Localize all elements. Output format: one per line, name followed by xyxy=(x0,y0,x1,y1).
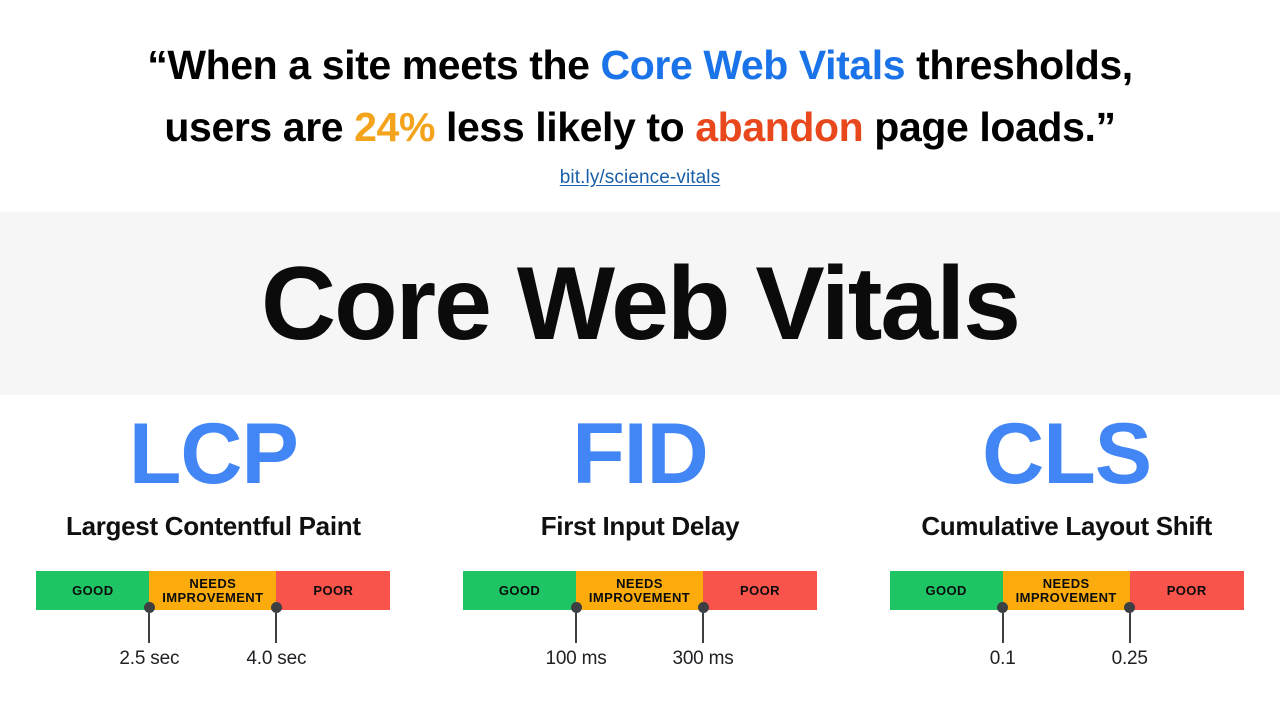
metric-card-cls: CLS Cumulative Layout Shift GOOD NEEDS I… xyxy=(853,395,1280,720)
metric-card-fid: FID First Input Delay GOOD NEEDS IMPROVE… xyxy=(427,395,854,720)
metric-abbr-cls: CLS xyxy=(982,411,1151,497)
quote-line2-part3: page loads.” xyxy=(863,104,1115,150)
marker-stem xyxy=(702,613,704,643)
threshold-label-cls-1: 0.1 xyxy=(990,648,1016,670)
marker-dot-icon xyxy=(1124,602,1135,613)
segment-needs-line1: NEEDS xyxy=(189,576,236,591)
quote-highlight-percent: 24% xyxy=(354,104,435,150)
metrics-row: LCP Largest Contentful Paint GOOD NEEDS … xyxy=(0,395,1280,720)
source-link[interactable]: bit.ly/science-vitals xyxy=(560,167,720,189)
threshold-label-lcp-1: 2.5 sec xyxy=(119,648,179,670)
segment-needs-line2: IMPROVEMENT xyxy=(1016,590,1117,605)
marker-stem xyxy=(1002,613,1004,643)
marker-stem xyxy=(575,613,577,643)
threshold-bar-cls: GOOD NEEDS IMPROVEMENT POOR 0.1 0.25 xyxy=(890,571,1244,610)
marker-dot-icon xyxy=(698,602,709,613)
threshold-label-fid-2: 300 ms xyxy=(672,648,733,670)
quote-highlight-abandon: abandon xyxy=(695,104,863,150)
threshold-label-lcp-2: 4.0 sec xyxy=(246,648,306,670)
segment-needs-improvement: NEEDS IMPROVEMENT xyxy=(149,571,276,610)
threshold-bar-fid: GOOD NEEDS IMPROVEMENT POOR 100 ms 300 m… xyxy=(463,571,817,610)
segment-good: GOOD xyxy=(36,571,149,610)
quote-line1-part2: thresholds, xyxy=(905,42,1133,88)
marker-dot-icon xyxy=(997,602,1008,613)
segment-poor: POOR xyxy=(703,571,817,610)
segment-needs-improvement: NEEDS IMPROVEMENT xyxy=(1003,571,1130,610)
threshold-bar-lcp: GOOD NEEDS IMPROVEMENT POOR 2.5 sec 4.0 … xyxy=(36,571,390,610)
metric-name-lcp: Largest Contentful Paint xyxy=(66,497,361,542)
threshold-bar-segments: GOOD NEEDS IMPROVEMENT POOR xyxy=(890,571,1244,610)
segment-needs-line2: IMPROVEMENT xyxy=(162,590,263,605)
marker-dot-icon xyxy=(571,602,582,613)
segment-needs-line1: NEEDS xyxy=(1043,576,1090,591)
marker-dot-icon xyxy=(271,602,282,613)
threshold-bar-segments: GOOD NEEDS IMPROVEMENT POOR xyxy=(36,571,390,610)
quote-line2-part1: users are xyxy=(164,104,354,150)
threshold-label-cls-2: 0.25 xyxy=(1112,648,1148,670)
threshold-label-fid-1: 100 ms xyxy=(545,648,606,670)
segment-good: GOOD xyxy=(890,571,1003,610)
metric-abbr-fid: FID xyxy=(572,411,708,497)
segment-needs-line1: NEEDS xyxy=(616,576,663,591)
marker-stem xyxy=(275,613,277,643)
quote-section: “When a site meets the Core Web Vitals t… xyxy=(0,0,1280,212)
quote-text: “When a site meets the Core Web Vitals t… xyxy=(45,34,1235,158)
quote-line2-part2: less likely to xyxy=(435,104,695,150)
quote-line1-part1: “When a site meets the xyxy=(147,42,600,88)
page-title: Core Web Vitals xyxy=(261,252,1019,356)
title-band: Core Web Vitals xyxy=(0,212,1280,395)
marker-stem xyxy=(148,613,150,643)
segment-poor: POOR xyxy=(276,571,390,610)
segment-needs-improvement: NEEDS IMPROVEMENT xyxy=(576,571,703,610)
quote-highlight-core-web-vitals: Core Web Vitals xyxy=(601,42,906,88)
quote-line-1: “When a site meets the Core Web Vitals t… xyxy=(45,34,1235,96)
quote-line-2: users are 24% less likely to abandon pag… xyxy=(45,96,1235,158)
segment-needs-line2: IMPROVEMENT xyxy=(589,590,690,605)
metric-abbr-lcp: LCP xyxy=(129,411,298,497)
marker-dot-icon xyxy=(144,602,155,613)
segment-poor: POOR xyxy=(1130,571,1244,610)
metric-card-lcp: LCP Largest Contentful Paint GOOD NEEDS … xyxy=(0,395,427,720)
threshold-bar-segments: GOOD NEEDS IMPROVEMENT POOR xyxy=(463,571,817,610)
segment-good: GOOD xyxy=(463,571,576,610)
marker-stem xyxy=(1129,613,1131,643)
metric-name-cls: Cumulative Layout Shift xyxy=(921,497,1212,542)
metric-name-fid: First Input Delay xyxy=(541,497,740,542)
